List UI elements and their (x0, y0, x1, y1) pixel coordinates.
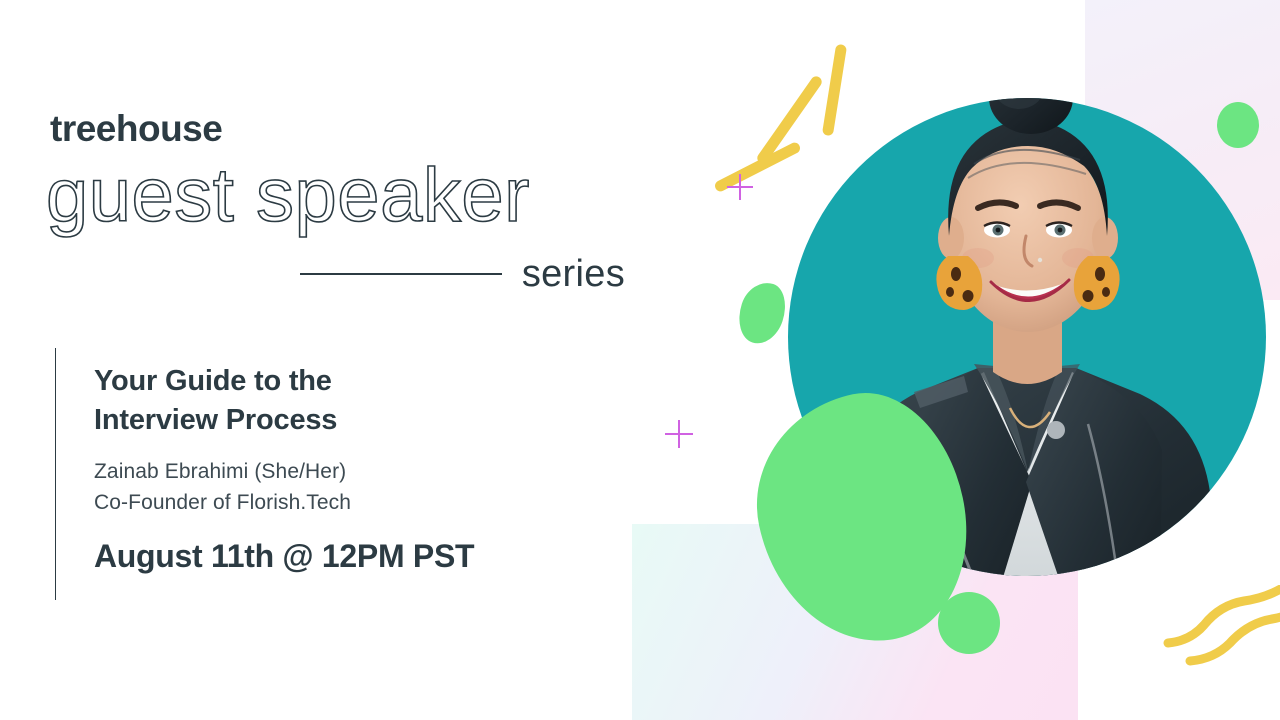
speaker-portrait (788, 20, 1266, 640)
page-title: guest speaker (46, 158, 530, 234)
speaker-role: Co-Founder of Florish.Tech (94, 488, 474, 518)
session-title: Your Guide to the Interview Process (94, 362, 474, 439)
series-divider-rule (300, 273, 502, 275)
green-blob-small (731, 277, 792, 350)
magenta-plus-top-icon (727, 174, 753, 200)
series-label: series (522, 255, 625, 293)
treehouse-wordmark: treehouse (50, 110, 222, 147)
session-details: Your Guide to the Interview Process Zain… (55, 348, 474, 600)
series-row: series (300, 255, 625, 293)
promo-text-column: treehouse guest speaker series Your Guid… (0, 0, 700, 720)
guest-speaker-promo-slide: treehouse guest speaker series Your Guid… (0, 0, 1280, 720)
event-datetime: August 11th @ 12PM PST (94, 540, 474, 572)
speaker-name: Zainab Ebrahimi (She/Her) (94, 457, 474, 487)
